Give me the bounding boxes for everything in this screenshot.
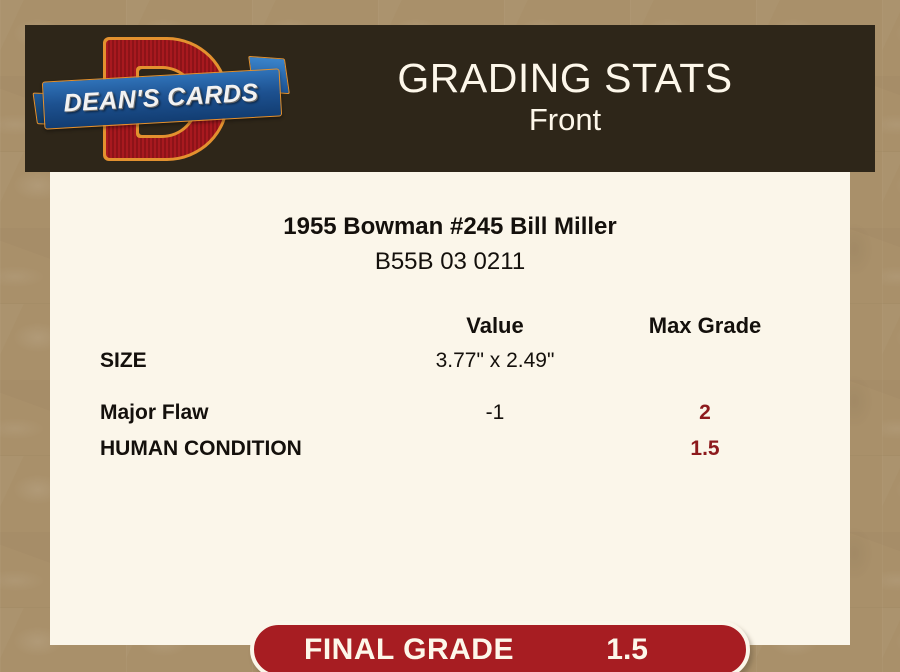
row-value-size: 3.77" x 2.49" xyxy=(390,349,600,373)
row-label-size: SIZE xyxy=(100,349,390,373)
deans-cards-logo[interactable]: DEAN'S CARDS xyxy=(25,25,295,172)
table-row: HUMAN CONDITION 1.5 xyxy=(100,437,845,473)
final-grade-label: FINAL GRADE xyxy=(304,633,514,667)
table-row: Major Flaw -1 2 xyxy=(100,401,845,437)
table-header-row: Value Max Grade xyxy=(100,313,845,349)
table-row: SIZE 3.77" x 2.49" xyxy=(100,349,845,385)
final-grade-banner: FINAL GRADE 1.5 xyxy=(250,621,750,672)
row-max-grade-human-condition: 1.5 xyxy=(600,437,810,461)
final-grade-value: 1.5 xyxy=(606,633,648,667)
content-panel: 1955 Bowman #245 Bill Miller B55B 03 021… xyxy=(50,118,850,645)
card-serial-number: B55B 03 0211 xyxy=(50,248,850,276)
row-spacer xyxy=(100,385,845,401)
row-max-grade-major-flaw: 2 xyxy=(600,401,810,425)
page-subtitle: Front xyxy=(295,100,835,140)
header-bar: DEAN'S CARDS GRADING STATS Front xyxy=(25,25,875,172)
grading-stats-page: 1955 Bowman #245 Bill Miller B55B 03 021… xyxy=(0,0,900,672)
row-value-major-flaw: -1 xyxy=(390,401,600,425)
page-title: GRADING STATS xyxy=(295,57,835,100)
row-label-major-flaw: Major Flaw xyxy=(100,401,390,425)
column-header-value: Value xyxy=(390,313,600,339)
grading-stats-table: Value Max Grade SIZE 3.77" x 2.49" Major… xyxy=(100,313,845,473)
logo-banner-ribbon-icon: DEAN'S CARDS xyxy=(35,73,287,127)
header-title-group: GRADING STATS Front xyxy=(295,57,875,140)
column-header-max-grade: Max Grade xyxy=(600,313,810,339)
row-label-human-condition: HUMAN CONDITION xyxy=(100,437,390,461)
card-title: 1955 Bowman #245 Bill Miller xyxy=(50,213,850,241)
logo-banner-text: DEAN'S CARDS xyxy=(42,68,280,127)
